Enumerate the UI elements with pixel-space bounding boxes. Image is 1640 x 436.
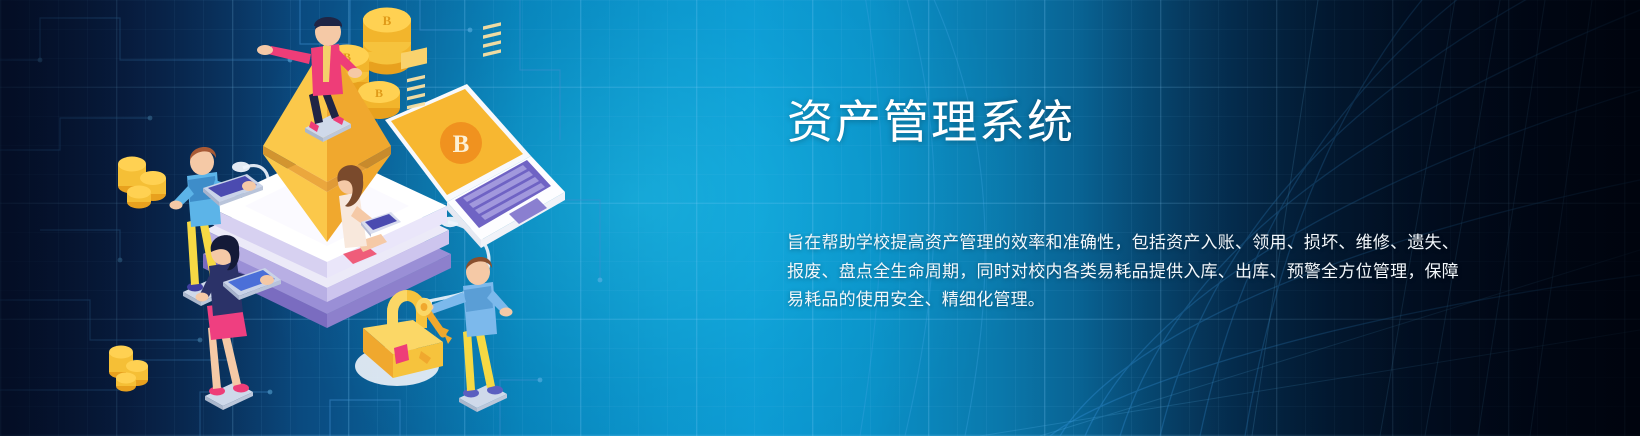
asset-management-banner: B B B bbox=[0, 0, 1640, 436]
svg-text:B: B bbox=[375, 86, 383, 100]
coin-cluster-left-icon bbox=[118, 157, 166, 209]
page-title: 资产管理系统 bbox=[787, 96, 1075, 149]
page-description: 旨在帮助学校提高资产管理的效率和准确性，包括资产入账、领用、损坏、维修、遗失、报… bbox=[787, 229, 1459, 315]
banner-text-block: 资产管理系统 旨在帮助学校提高资产管理的效率和准确性，包括资产入账、领用、损坏、… bbox=[787, 0, 1467, 436]
svg-text:B: B bbox=[453, 131, 470, 158]
coin-cluster-bottom-icon bbox=[109, 346, 148, 392]
svg-text:B: B bbox=[383, 13, 392, 28]
isometric-blockchain-illustration: B B B bbox=[95, 0, 565, 436]
